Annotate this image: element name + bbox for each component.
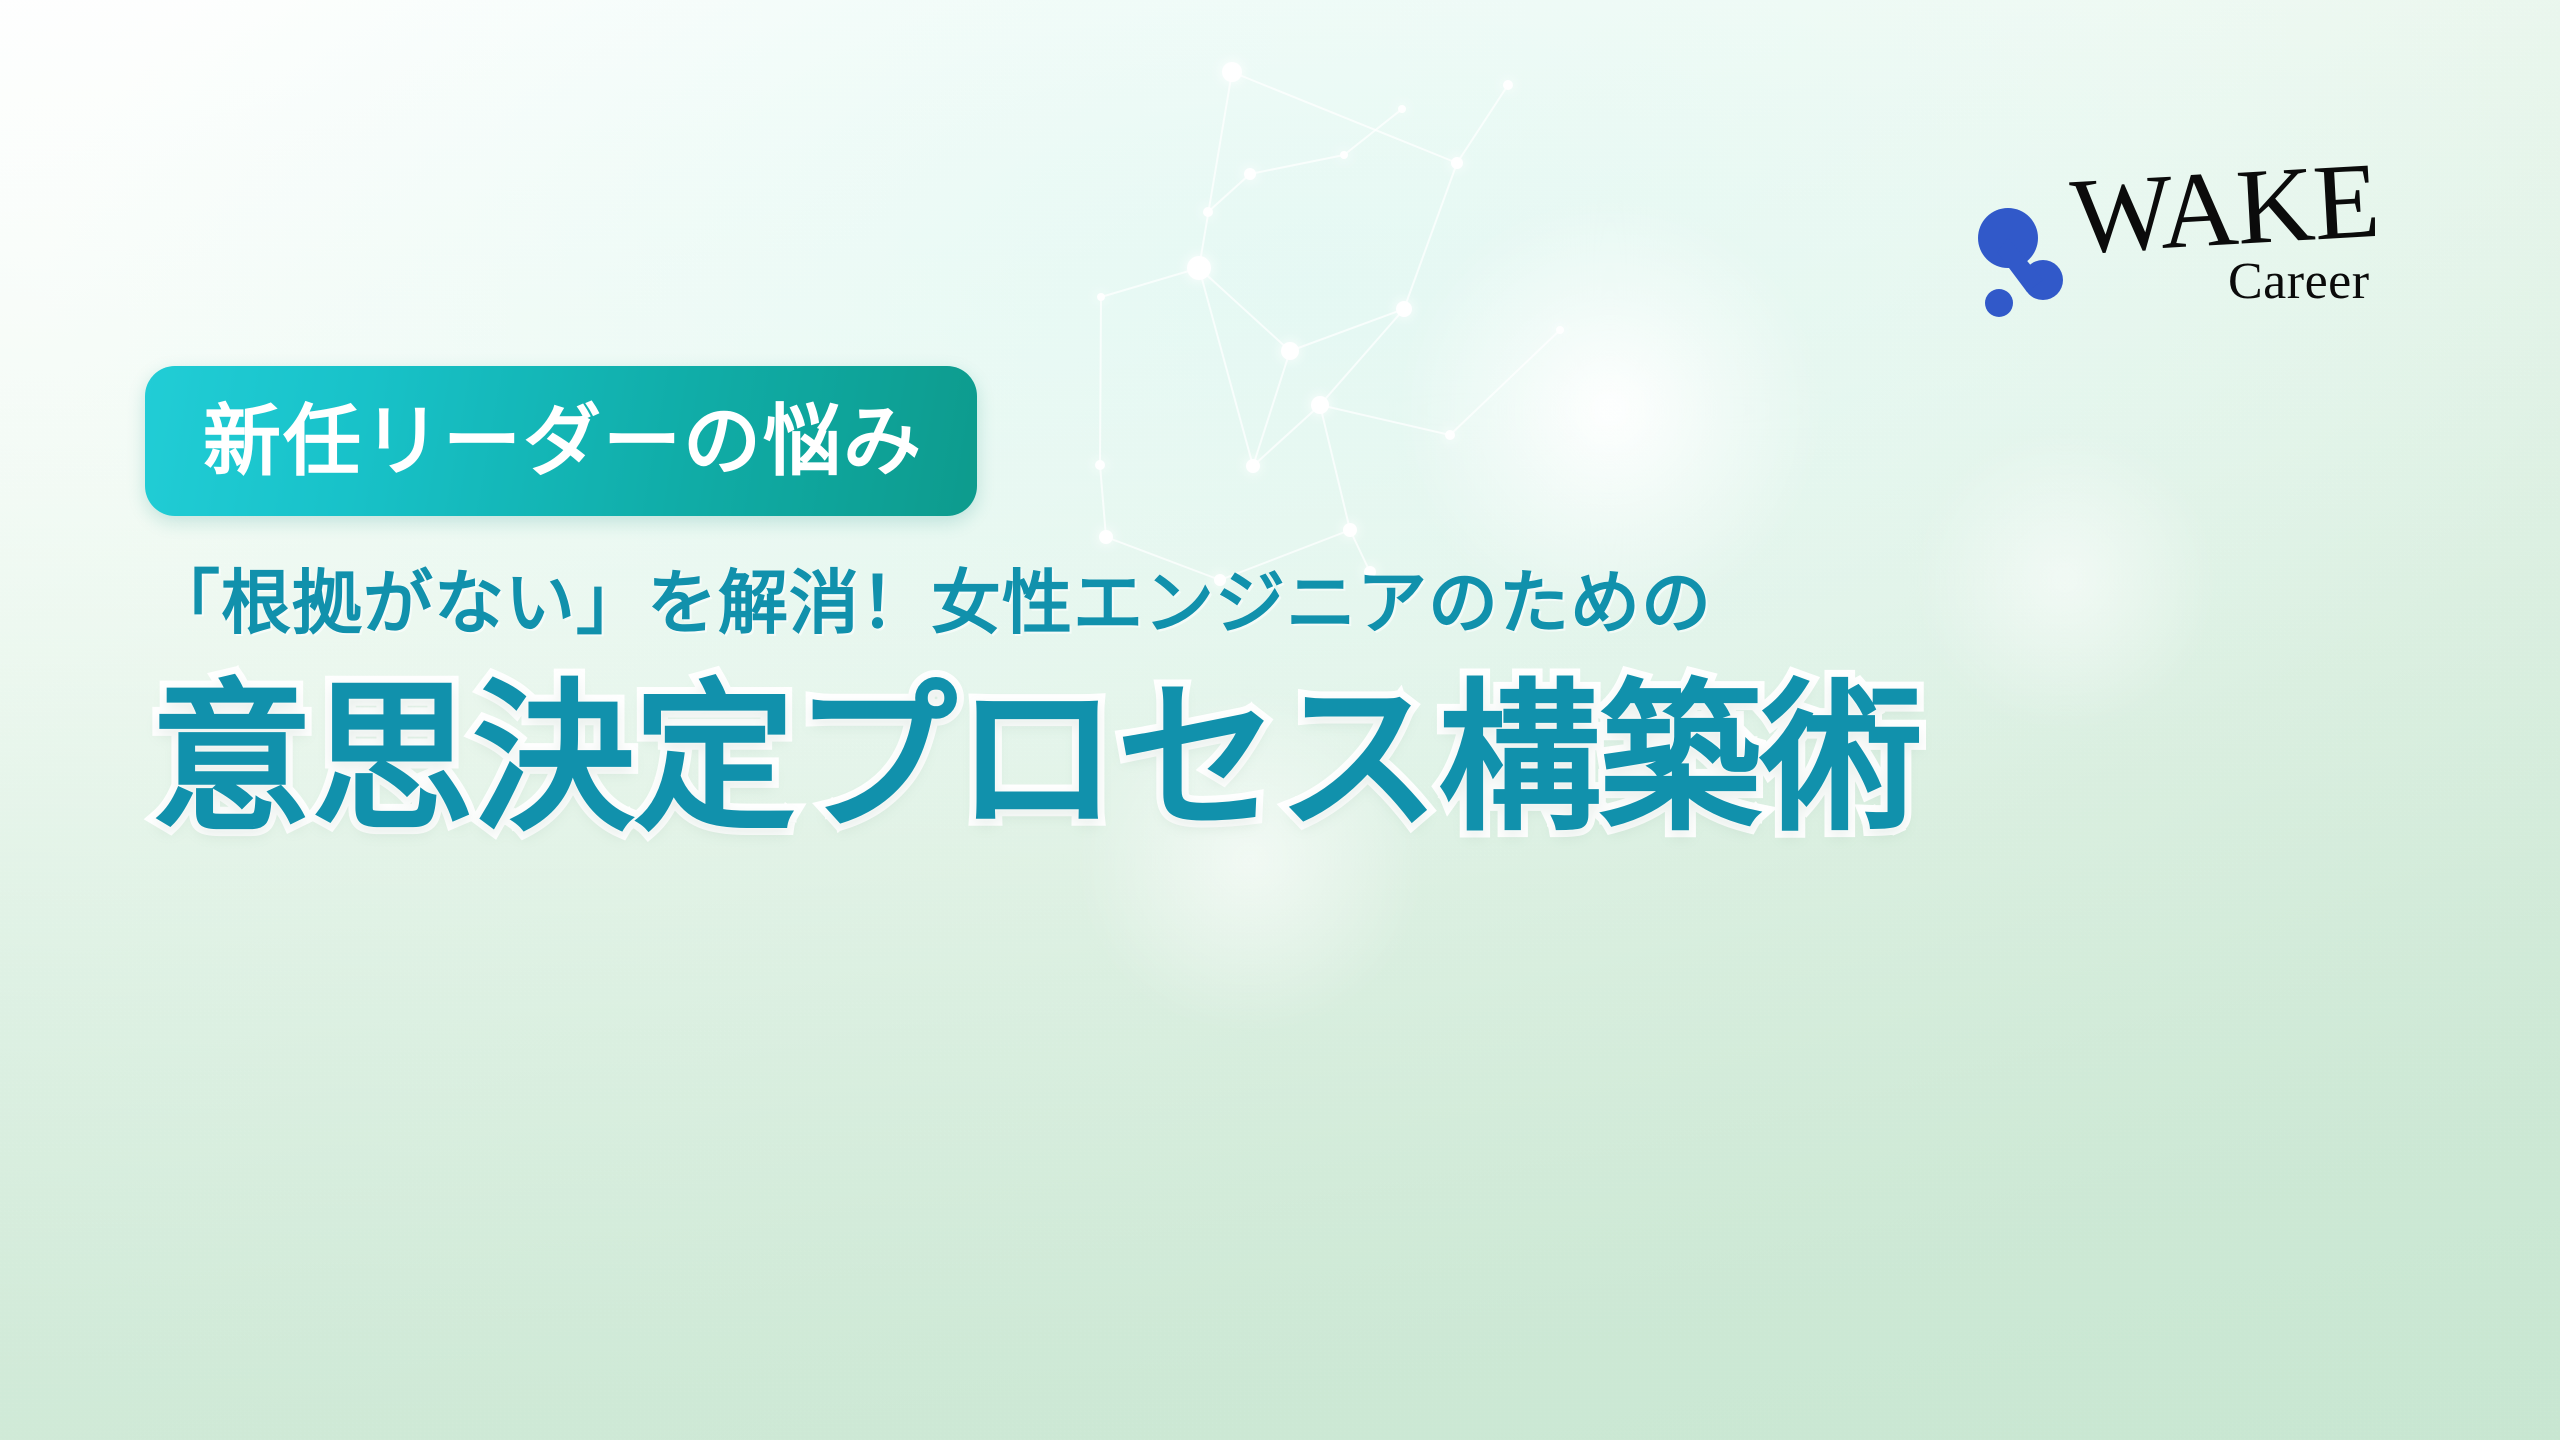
headline-block: 「根拠がない」を解消！女性エンジニアのための 意思決定プロセス構築術 bbox=[150, 560, 2470, 850]
category-badge-label: 新任リーダーの悩み bbox=[203, 402, 923, 480]
network-edges bbox=[1100, 72, 1560, 580]
category-badge[interactable]: 新任リーダーの悩み bbox=[145, 366, 977, 516]
subtitle-text: 「根拠がない」を解消！女性エンジニアのための bbox=[150, 560, 2470, 648]
molecule-nodes-icon bbox=[1975, 200, 2071, 320]
main-title-text: 意思決定プロセス構築術 bbox=[150, 668, 2470, 851]
thumbnail-canvas: WAKE Career 新任リーダーの悩み 「根拠がない」を解消！女性エンジニア… bbox=[0, 0, 2560, 1440]
network-nodes bbox=[1095, 62, 1564, 586]
brand-logo[interactable]: WAKE Career bbox=[1975, 178, 2405, 333]
logo-subword-career: Career bbox=[2228, 256, 2370, 308]
